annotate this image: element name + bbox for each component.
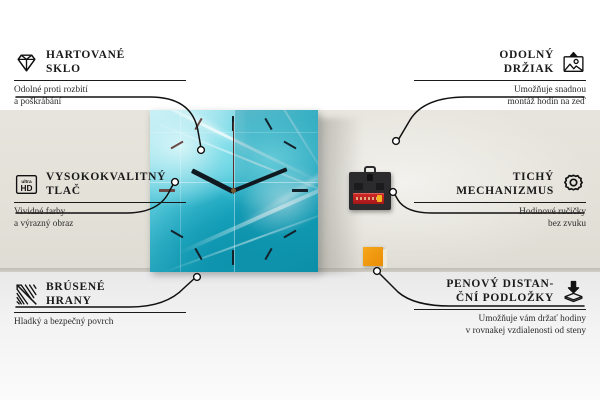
feature-description: Umožňuje vám držať hodiny v rovnakej vzd… [414,314,586,337]
feature-foam-spacers: PENOVÝ DISTAN- ČNÍ PODLOŽKY Umožňuje vám… [414,277,586,337]
hatched-edge-icon [14,282,39,307]
mechanism-detail [376,183,384,190]
mechanism-battery [353,193,384,204]
feature-durable-holder: ODOLNÝ DRŽIAK Umožňuje snadnou montáž ho… [414,48,586,108]
feature-description: Vividné farby a výrazný obraz [14,207,186,230]
clock-second-hand [233,122,234,194]
feature-description: Umožňuje snadnou montáž hodin na zeď [414,85,586,108]
feature-title: PENOVÝ DISTAN- ČNÍ PODLOŽKY [446,277,554,305]
ultra-hd-icon: ultra HD [14,172,39,197]
foam-layers-icon [561,279,586,304]
foam-spacer-pad [363,247,383,266]
feature-silent-mechanism: TICHÝ MECHANIZMUS Hodinové ručičky bez z… [414,170,586,230]
clock-tick [232,250,234,265]
divider [14,80,186,81]
feature-polished-edges: BRÚSENÉ HRANY Hladký a bezpečný povrch [14,280,186,329]
feature-high-quality-print: ultra HD VYSOKOKVALITNÝ TLAČ Vividné far… [14,170,186,230]
mechanism-shaft [367,174,373,181]
svg-text:HD: HD [20,182,32,192]
feature-title: ODOLNÝ DRŽIAK [499,48,554,76]
divider [414,80,586,81]
divider [414,309,586,310]
clock-center-pin [231,188,236,193]
diamond-icon [14,50,39,75]
feature-title: BRÚSENÉ HRANY [46,280,105,308]
mechanism-detail [354,183,363,190]
feature-title: HARTOVANÉ SKLO [46,48,125,76]
feature-title: VYSOKOKVALITNÝ TLAČ [46,170,166,198]
clock-mechanism [349,172,391,210]
infographic-canvas: HARTOVANÉ SKLO Odolné proti rozbití a po… [0,0,600,400]
divider [14,202,186,203]
feature-description: Hodinové ručičky bez zvuku [414,207,586,230]
picture-hanger-icon [561,50,586,75]
clock-tick [292,189,308,192]
divider [414,202,586,203]
feature-description: Odolné proti rozbití a poškrábání [14,85,186,108]
gear-icon [561,172,586,197]
feature-description: Hladký a bezpečný povrch [14,317,186,329]
divider [14,312,186,313]
feature-title: TICHÝ MECHANIZMUS [456,170,554,198]
feature-tempered-glass: HARTOVANÉ SKLO Odolné proti rozbití a po… [14,48,186,108]
